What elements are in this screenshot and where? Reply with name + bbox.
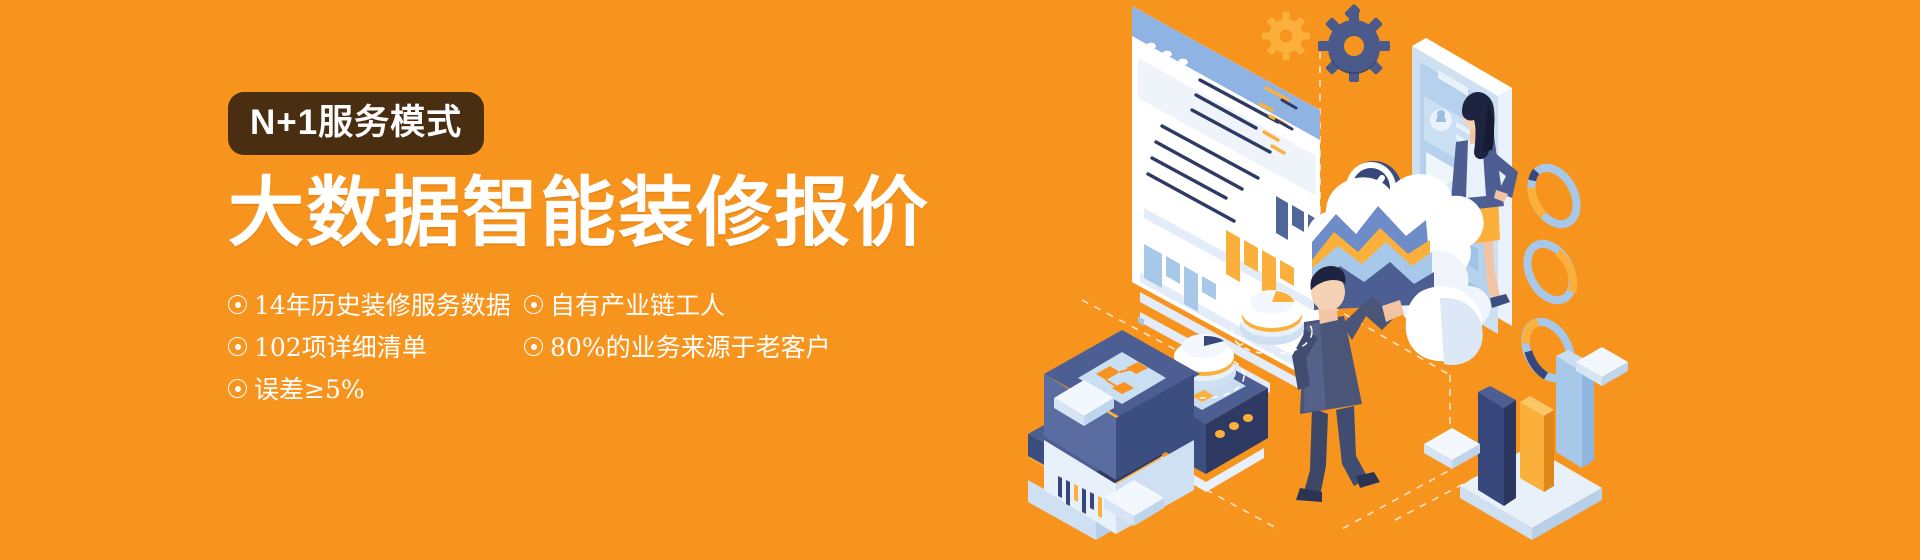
feature-label: 14年历史装修服务数据 [254,293,511,318]
feature-item: 80%的业务来源于老客户 [524,326,854,368]
donut-ring-charts [1516,160,1585,386]
feature-item: 14年历史装修服务数据 [228,284,496,326]
circled-dot-icon [524,337,543,356]
gear-icon-amber [1262,12,1310,60]
feature-column-left: 14年历史装修服务数据 102项详细清单 误差≥5% [228,284,496,410]
service-model-badge: N+1服务模式 [228,92,484,155]
circled-dot-icon [228,337,247,356]
feature-item: 102项详细清单 [228,326,496,368]
feature-list: 14年历史装修服务数据 102项详细清单 误差≥5% 自有产业链工人 [228,284,988,410]
gear-icon-navy [1318,4,1390,82]
circled-dot-icon [524,295,543,314]
feature-item: 误差≥5% [228,368,496,410]
banner-copy-block: N+1服务模式 大数据智能装修报价 14年历史装修服务数据 102项详细清单 误… [228,92,988,410]
circled-dot-icon [228,379,247,398]
feature-item: 自有产业链工人 [524,284,854,326]
feature-label: 误差≥5% [254,377,365,402]
feature-label: 80%的业务来源于老客户 [550,335,831,360]
3d-bar-chart-graphic [1460,350,1602,540]
banner-headline: 大数据智能装修报价 [228,173,988,254]
circled-dot-icon [228,295,247,314]
isometric-big-data-illustration [1020,0,1640,560]
feature-label: 102项详细清单 [254,335,427,360]
feature-column-right: 自有产业链工人 80%的业务来源于老客户 [524,284,854,410]
promo-banner: N+1服务模式 大数据智能装修报价 14年历史装修服务数据 102项详细清单 误… [0,0,1920,560]
feature-label: 自有产业链工人 [550,293,725,318]
